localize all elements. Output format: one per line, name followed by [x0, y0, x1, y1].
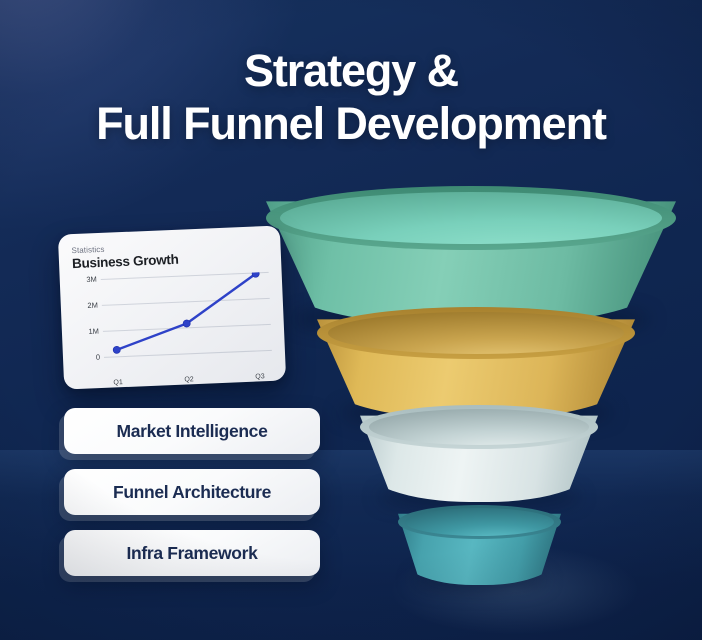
poster-canvas: Strategy & Full Funnel Development Stati…	[0, 0, 702, 640]
background-vignette	[0, 0, 702, 640]
